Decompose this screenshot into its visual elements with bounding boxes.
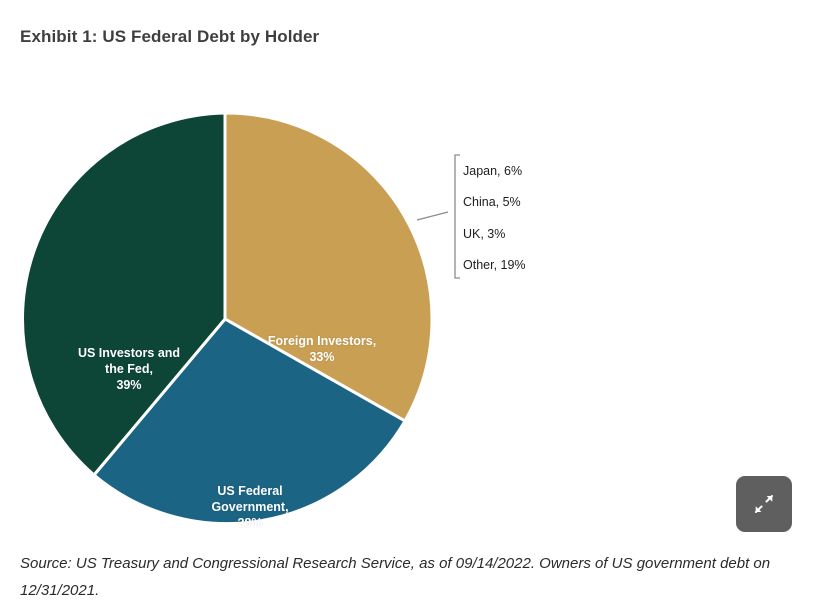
pie-slice-label-line: US Investors and [55,345,203,361]
page-title: Exhibit 1: US Federal Debt by Holder [20,27,319,47]
callout-leader-line [417,212,448,220]
pie-slice-label-line: the Fed, [55,361,203,377]
callout-item-uk: UK, 3% [463,227,505,241]
pie-slice-label-line: Government, [180,499,320,515]
pie-slice-label-line: Foreign Investors, [248,333,396,349]
expand-button[interactable] [736,476,792,532]
pie-slice-label-us-investors-and-the-fed: US Investors and the Fed, 39% [55,345,203,393]
pie-slice-label-line: 33% [248,349,396,365]
callout-item-china: China, 5% [463,195,521,209]
pie-chart: Foreign Investors, 33% US Investors and … [0,85,620,540]
pie-slice-label-line: 28% [180,515,320,531]
chart-card: Exhibit 1: US Federal Debt by Holder For… [0,0,827,613]
callout-bracket [455,155,460,278]
pie-slice-label-us-federal-government: US Federal Government, 28% [180,483,320,531]
pie-chart-svg [0,85,620,540]
source-note: Source: US Treasury and Congressional Re… [20,550,810,604]
pie-slice-label-line: US Federal [180,483,320,499]
callout-item-japan: Japan, 6% [463,164,522,178]
expand-icon [751,491,777,517]
callout-item-other: Other, 19% [463,258,526,272]
pie-slice-label-line: 39% [55,377,203,393]
pie-slice-label-foreign-investors: Foreign Investors, 33% [248,333,396,365]
